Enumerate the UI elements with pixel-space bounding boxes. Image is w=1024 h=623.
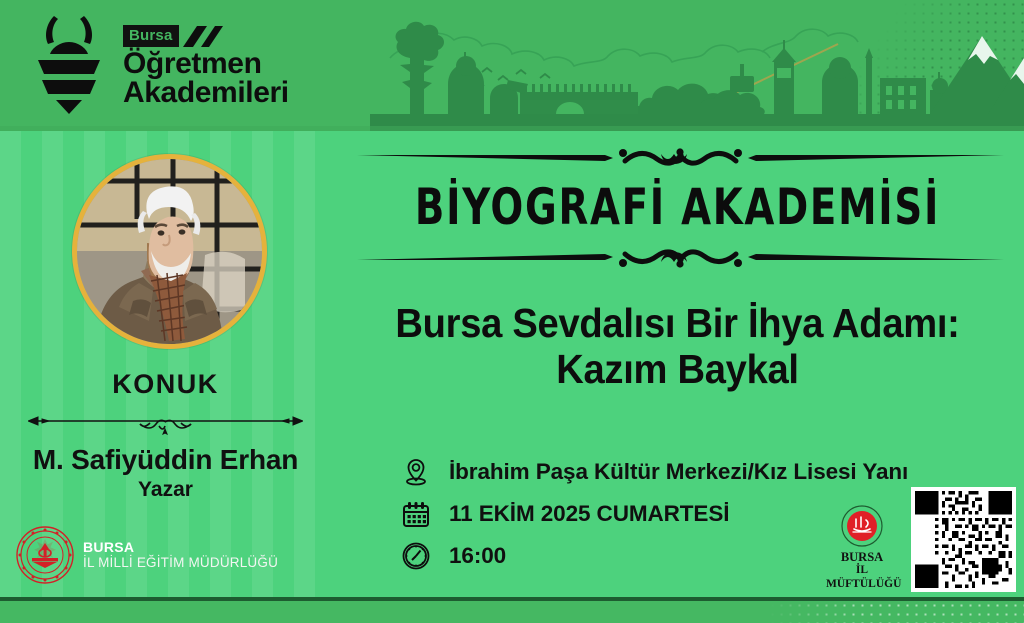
muftu-line-1: BURSA (826, 550, 898, 564)
clock-icon (401, 541, 431, 571)
header-band: Bursa Öğretmen Akademileri (0, 0, 1024, 131)
detail-time-text: 16:00 (449, 543, 506, 569)
footer-band (0, 601, 1024, 623)
brand-line-2: Akademileri (123, 78, 289, 107)
meb-seal-icon (16, 526, 74, 584)
calendar-icon (401, 499, 431, 529)
meb-line-2: İL MİLLİ EĞİTİM MÜDÜRLÜĞÜ (83, 555, 278, 571)
bee-icon (26, 12, 112, 116)
detail-location-text: İbrahim Paşa Kültür Merkezi/Kız Lisesi Y… (449, 459, 908, 485)
brand-logo: Bursa Öğretmen Akademileri (26, 12, 289, 116)
subject-line-1: Bursa Sevdalısı Bir İhya Adamı: (378, 301, 978, 347)
event-poster: Bursa Öğretmen Akademileri (0, 0, 1024, 623)
qr-code-icon[interactable] (915, 491, 1012, 588)
guest-panel: KONUK M. Safiyüddin Erhan Yazar (0, 131, 331, 598)
qr-code[interactable] (911, 487, 1016, 592)
meb-line-1: BURSA (83, 539, 278, 555)
subject-line-2: Kazım Baykal (378, 347, 978, 393)
ornamental-divider-flourish-icon (28, 409, 303, 435)
muftu-line-2: İL MÜFTÜLÜĞÜ (826, 564, 898, 590)
guest-portrait-frame (72, 154, 267, 349)
guest-label: KONUK (0, 369, 331, 400)
location-pin-icon (401, 457, 431, 487)
subject-title: Bursa Sevdalısı Bir İhya Adamı: Kazım Ba… (378, 301, 978, 393)
muftu-logo: BURSA İL MÜFTÜLÜĞÜ (826, 505, 898, 591)
guest-role: Yazar (0, 478, 331, 502)
diyanet-seal-icon (841, 505, 883, 547)
detail-row-location: İbrahim Paşa Kültür Merkezi/Kız Lisesi Y… (401, 451, 961, 493)
detail-date-text: 11 EKİM 2025 CUMARTESİ (449, 501, 729, 527)
guest-name: M. Safiyüddin Erhan (0, 444, 331, 476)
academy-title: BİYOGRAFİ AKADEMİSİ (380, 178, 976, 236)
bursa-skyline-silhouette-icon (370, 6, 1024, 131)
brand-line-1: Öğretmen (123, 49, 289, 78)
ornamental-divider-flourish-icon (357, 143, 1004, 173)
guest-portrait-photo-icon (77, 159, 262, 344)
ornamental-divider-flourish-icon (357, 244, 1004, 274)
meb-logo: BURSA İL MİLLİ EĞİTİM MÜDÜRLÜĞÜ (16, 526, 278, 584)
double-slash-icon (181, 26, 223, 47)
halftone-dots-pattern-icon (714, 601, 1024, 623)
brand-badge: Bursa (123, 25, 179, 47)
